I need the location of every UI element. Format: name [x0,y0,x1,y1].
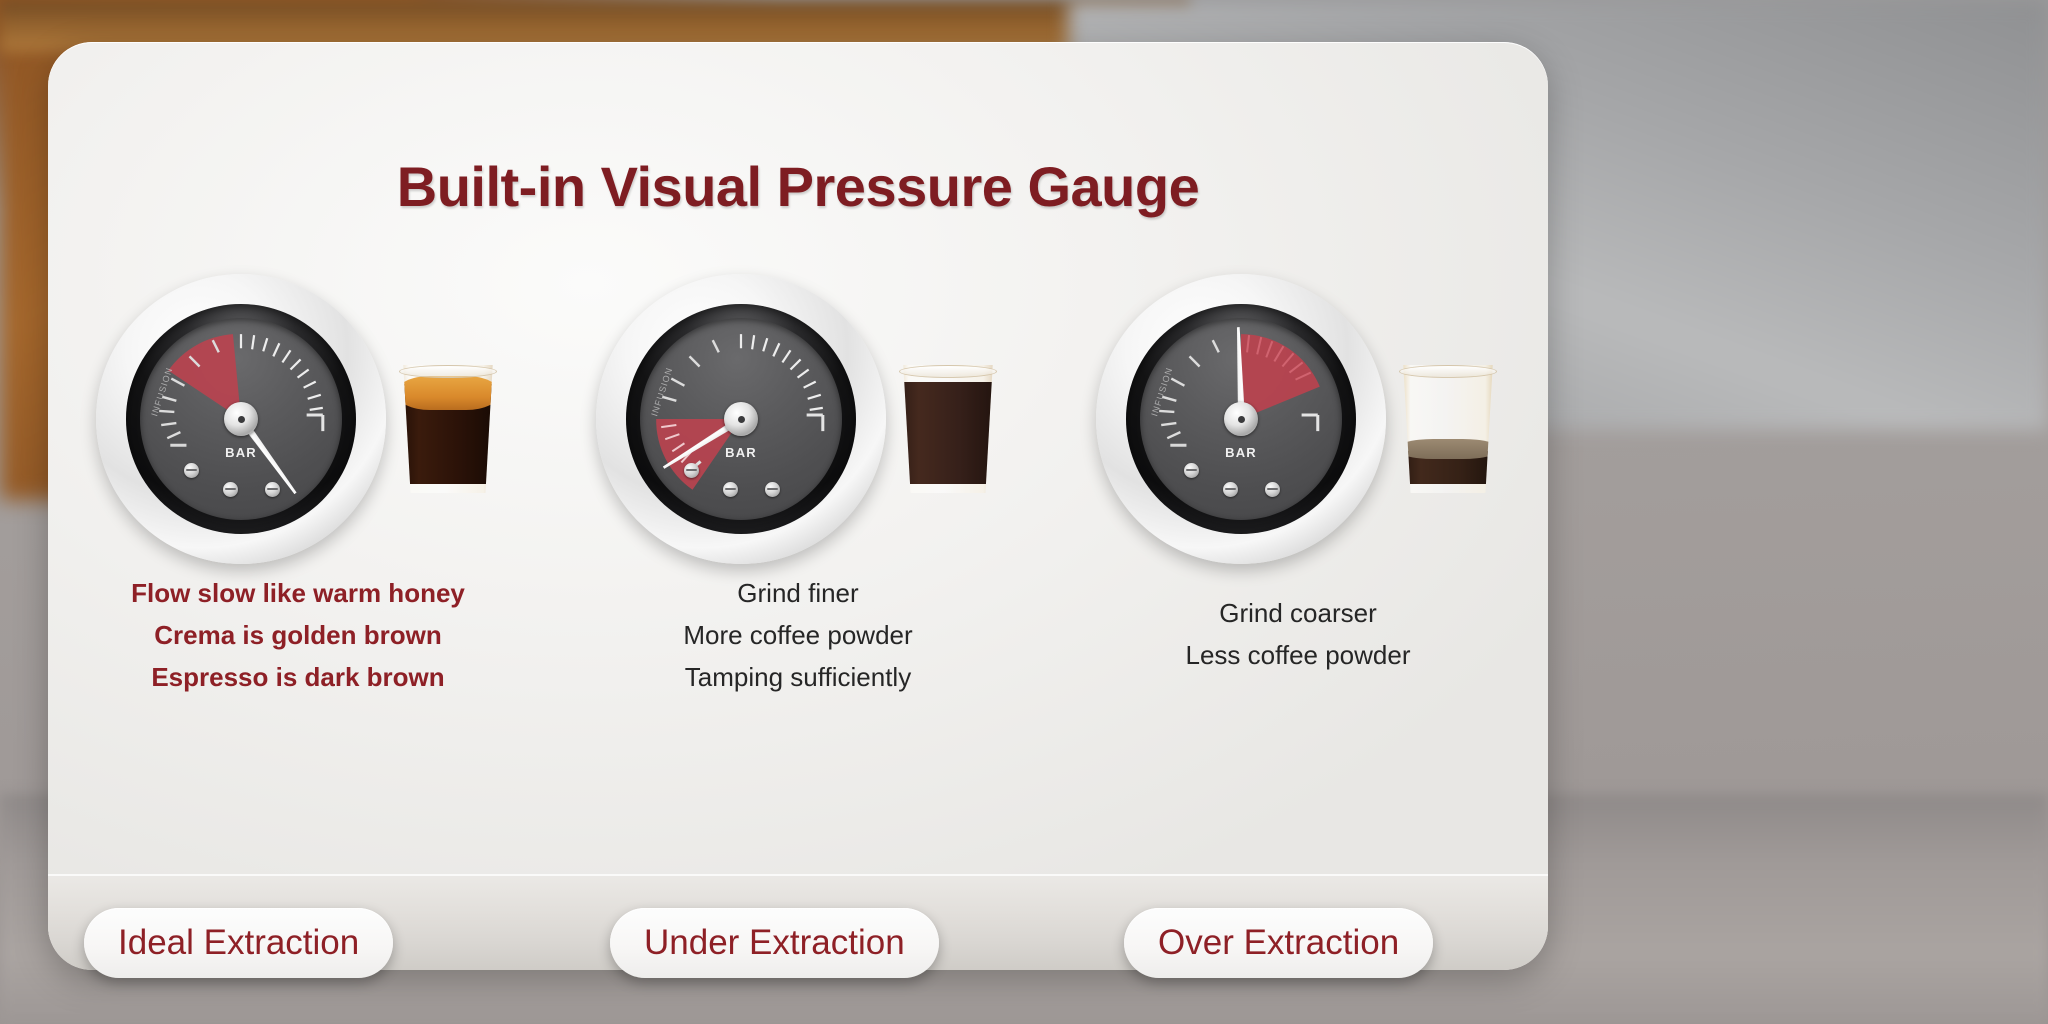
pressure-gauge-over: INFUSION BAR [1096,274,1386,564]
badge-under-extraction[interactable]: Under Extraction [610,908,939,978]
gauge-unit-label: BAR [640,445,842,460]
column-under: INFUSION BAR [548,274,1048,724]
caption-line: Flow slow like warm honey [48,572,548,614]
crema-layer [896,376,1000,392]
gauge-unit-label: BAR [140,445,342,460]
pressure-gauge-under: INFUSION BAR [596,274,886,564]
crema-layer [1396,439,1500,459]
dial-screw [265,482,280,497]
over-extracted-shot [1396,345,1500,493]
dial-screw [1265,482,1280,497]
shot-glass [896,365,1000,493]
glass-rim [399,365,497,378]
column-over: INFUSION BAR [1048,274,1548,724]
pressure-gauge-ideal: INFUSION BAR [96,274,386,564]
extraction-columns: INFUSION BAR [48,274,1548,724]
caption-ideal: Flow slow like warm honey Crema is golde… [48,572,548,698]
column-ideal: INFUSION BAR [48,274,548,724]
caption-line: Grind finer [548,572,1048,614]
coffee-liquid [896,382,1000,484]
gauge-unit-label: BAR [1140,445,1342,460]
shot-glass [1396,365,1500,493]
gauge-dial-face: INFUSION BAR [1140,318,1342,520]
gauge-center-hub [1224,402,1258,436]
badge-over-extraction[interactable]: Over Extraction [1124,908,1433,978]
caption-line: More coffee powder [548,614,1048,656]
glass-rim [1399,365,1497,378]
badge-ideal-extraction[interactable]: Ideal Extraction [84,908,393,978]
gauge-and-cup-ideal: INFUSION BAR [48,274,548,564]
caption-over: Grind coarser Less coffee powder [1048,592,1548,676]
dial-screw [723,482,738,497]
extraction-badges: Ideal Extraction Under Extraction Over E… [48,908,1548,986]
ideal-espresso-shot [396,345,500,493]
dial-screw [223,482,238,497]
caption-line: Less coffee powder [1048,634,1548,676]
glass-rim [899,365,997,378]
shot-glass [396,365,500,493]
dial-screw [765,482,780,497]
caption-line: Tamping sufficiently [548,656,1048,698]
page-title: Built-in Visual Pressure Gauge [48,154,1548,219]
gauge-dial-face: INFUSION BAR [640,318,842,520]
crema-layer [396,376,500,410]
dial-screw [1223,482,1238,497]
gauge-center-hub [224,402,258,436]
gauge-and-cup-under: INFUSION BAR [548,274,1048,564]
gauge-center-hub [724,402,758,436]
gauge-dial-face: INFUSION BAR [140,318,342,520]
caption-under: Grind finer More coffee powder Tamping s… [548,572,1048,698]
under-extracted-shot [896,345,1000,493]
gauge-and-cup-over: INFUSION BAR [1048,274,1548,564]
caption-line: Espresso is dark brown [48,656,548,698]
caption-line: Grind coarser [1048,592,1548,634]
caption-line: Crema is golden brown [48,614,548,656]
feature-card: Built-in Visual Pressure Gauge [48,42,1548,970]
